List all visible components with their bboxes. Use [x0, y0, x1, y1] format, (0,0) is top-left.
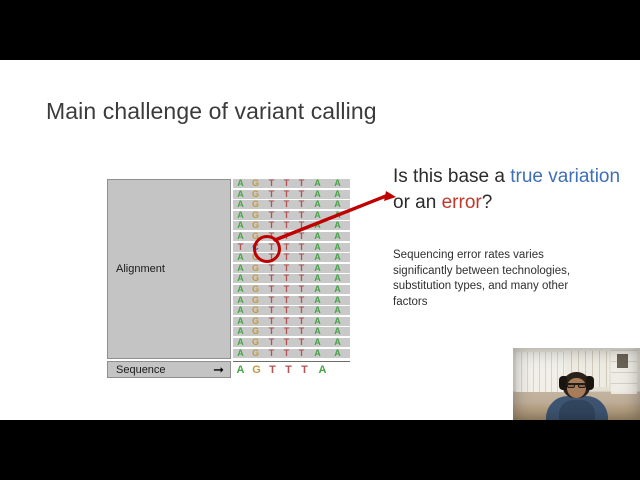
read-base-a: A — [312, 273, 323, 283]
sequence-label: Sequence — [116, 364, 166, 376]
read-base-g: G — [250, 210, 261, 220]
headline-text-1: Is this base a — [393, 166, 510, 187]
read-base-t: T — [296, 263, 307, 273]
read-base-a: A — [235, 220, 246, 230]
read-base-t: T — [296, 348, 307, 358]
headline-error: error — [442, 192, 482, 213]
reference-base-a: A — [316, 364, 329, 377]
read-row: AGTTTAA — [233, 253, 350, 262]
read-base-t: T — [235, 242, 246, 252]
reference-base-a: A — [234, 364, 247, 377]
read-base-a: A — [235, 284, 246, 294]
read-base-a: A — [332, 273, 343, 283]
read-base-a: A — [312, 252, 323, 262]
read-base-t: T — [296, 284, 307, 294]
read-base-t: T — [266, 179, 277, 188]
reference-sequence-row: AGTTTA — [233, 361, 350, 378]
read-base-t: T — [281, 210, 292, 220]
read-base-t: T — [281, 189, 292, 199]
read-base-g: G — [250, 263, 261, 273]
read-base-a: A — [312, 189, 323, 199]
read-base-a: A — [332, 263, 343, 273]
read-base-t: T — [281, 316, 292, 326]
headline-true-variation: true variation — [510, 166, 620, 187]
read-base-t: T — [266, 337, 277, 347]
read-base-t: T — [281, 337, 292, 347]
reference-base-t: T — [282, 364, 295, 377]
read-base-a: A — [235, 295, 246, 305]
headline-text-3: ? — [482, 192, 493, 213]
presenter-webcam — [513, 348, 640, 420]
read-base-t: T — [281, 295, 292, 305]
alignment-panel: Alignment — [107, 179, 231, 359]
read-base-t: T — [296, 295, 307, 305]
read-row: AGTTTAA — [233, 211, 350, 220]
read-base-t: T — [296, 337, 307, 347]
read-base-a: A — [312, 316, 323, 326]
read-base-g: G — [250, 189, 261, 199]
callout-body-text: Sequencing error rates varies significan… — [393, 248, 605, 310]
read-base-t: T — [266, 189, 277, 199]
read-base-g: G — [250, 199, 261, 209]
variant-highlight-circle — [253, 235, 281, 263]
read-base-t: T — [281, 242, 292, 252]
read-base-a: A — [235, 189, 246, 199]
read-base-a: A — [235, 263, 246, 273]
read-base-a: A — [332, 210, 343, 220]
read-base-a: A — [312, 348, 323, 358]
read-base-a: A — [332, 199, 343, 209]
read-row: AGTTTAA — [233, 232, 350, 241]
read-base-g: G — [250, 337, 261, 347]
read-base-a: A — [332, 348, 343, 358]
read-base-a: A — [235, 337, 246, 347]
alignment-label: Alignment — [116, 263, 165, 275]
read-base-t: T — [296, 199, 307, 209]
read-base-g: G — [250, 305, 261, 315]
read-base-a: A — [312, 337, 323, 347]
read-base-a: A — [312, 284, 323, 294]
read-base-t: T — [296, 242, 307, 252]
read-base-t: T — [266, 199, 277, 209]
read-base-a: A — [332, 326, 343, 336]
read-base-a: A — [332, 179, 343, 188]
alignment-figure: Alignment AGTTTAAAGTTTAAAGTTTAAAGTTTAAAG… — [107, 179, 350, 378]
read-row: AGTTTAA — [233, 190, 350, 199]
read-base-g: G — [250, 316, 261, 326]
read-base-a: A — [312, 242, 323, 252]
read-base-t: T — [296, 210, 307, 220]
read-base-a: A — [332, 337, 343, 347]
read-base-a: A — [332, 242, 343, 252]
read-base-t: T — [266, 284, 277, 294]
webcam-vignette — [513, 348, 640, 420]
read-base-a: A — [235, 273, 246, 283]
sequence-panel: Sequence ➞ — [107, 361, 231, 378]
read-base-t: T — [281, 252, 292, 262]
read-base-a: A — [312, 210, 323, 220]
read-base-t: T — [296, 189, 307, 199]
read-base-g: G — [250, 220, 261, 230]
read-base-a: A — [312, 179, 323, 188]
read-base-a: A — [235, 348, 246, 358]
read-base-t: T — [296, 305, 307, 315]
read-base-a: A — [312, 263, 323, 273]
read-base-t: T — [296, 220, 307, 230]
read-base-a: A — [235, 326, 246, 336]
read-base-a: A — [332, 316, 343, 326]
read-base-t: T — [266, 316, 277, 326]
read-base-t: T — [281, 305, 292, 315]
letterbox-top — [0, 0, 640, 60]
read-base-a: A — [235, 179, 246, 188]
read-row: AGTTTAA — [233, 349, 350, 358]
read-row: AGTTTAA — [233, 327, 350, 336]
read-base-t: T — [281, 273, 292, 283]
read-base-t: T — [296, 316, 307, 326]
read-base-a: A — [235, 210, 246, 220]
read-base-a: A — [312, 295, 323, 305]
read-row: TCTTTAA — [233, 243, 350, 252]
read-base-a: A — [332, 189, 343, 199]
callout-headline: Is this base a true variation or an erro… — [393, 164, 621, 216]
read-base-t: T — [266, 210, 277, 220]
read-row: AGTTTAA — [233, 179, 350, 188]
reference-base-t: T — [266, 364, 279, 377]
read-base-a: A — [332, 220, 343, 230]
read-row: AGTTTAA — [233, 200, 350, 209]
read-base-g: G — [250, 179, 261, 188]
read-base-g: G — [250, 348, 261, 358]
read-row: AGTTTAA — [233, 306, 350, 315]
read-base-g: G — [250, 326, 261, 336]
read-base-a: A — [332, 284, 343, 294]
read-base-a: A — [312, 199, 323, 209]
read-row: AGTTTAA — [233, 338, 350, 347]
read-base-a: A — [235, 231, 246, 241]
read-base-t: T — [296, 179, 307, 188]
read-base-a: A — [332, 295, 343, 305]
read-row: AGTTTAA — [233, 296, 350, 305]
read-base-g: G — [250, 295, 261, 305]
right-arrow-icon: ➞ — [213, 364, 224, 376]
read-row: AGTTTAA — [233, 274, 350, 283]
read-row: AGTTTAA — [233, 285, 350, 294]
read-base-a: A — [332, 252, 343, 262]
read-base-a: A — [312, 326, 323, 336]
letterbox-bottom — [0, 420, 640, 480]
read-stack: AGTTTAAAGTTTAAAGTTTAAAGTTTAAAGTTTAAAGTTT… — [233, 179, 350, 359]
read-base-a: A — [235, 316, 246, 326]
read-base-a: A — [235, 305, 246, 315]
read-base-a: A — [235, 199, 246, 209]
read-base-a: A — [312, 305, 323, 315]
read-row: AGTTTAA — [233, 221, 350, 230]
read-base-t: T — [266, 220, 277, 230]
read-base-t: T — [266, 263, 277, 273]
read-base-t: T — [296, 326, 307, 336]
read-base-t: T — [281, 199, 292, 209]
reference-base-g: G — [250, 364, 263, 377]
read-row: AGTTTAA — [233, 317, 350, 326]
read-base-t: T — [266, 305, 277, 315]
read-base-g: G — [250, 284, 261, 294]
read-base-a: A — [312, 220, 323, 230]
headline-text-2: or an — [393, 192, 442, 213]
read-base-t: T — [281, 348, 292, 358]
read-base-t: T — [281, 179, 292, 188]
page-title: Main challenge of variant calling — [46, 98, 377, 125]
read-base-t: T — [296, 252, 307, 262]
read-base-t: T — [266, 348, 277, 358]
read-base-t: T — [281, 326, 292, 336]
read-base-t: T — [266, 295, 277, 305]
video-frame: Main challenge of variant calling Alignm… — [0, 0, 640, 480]
read-base-t: T — [281, 284, 292, 294]
read-base-a: A — [235, 252, 246, 262]
read-base-t: T — [266, 273, 277, 283]
read-base-a: A — [332, 305, 343, 315]
read-base-g: G — [250, 273, 261, 283]
read-base-t: T — [296, 273, 307, 283]
read-base-a: A — [332, 231, 343, 241]
read-base-a: A — [312, 231, 323, 241]
read-base-t: T — [281, 263, 292, 273]
read-base-t: T — [266, 326, 277, 336]
read-base-t: T — [296, 231, 307, 241]
read-base-t: T — [281, 220, 292, 230]
read-base-t: T — [281, 231, 292, 241]
read-row: AGTTTAA — [233, 264, 350, 273]
reference-base-t: T — [298, 364, 311, 377]
